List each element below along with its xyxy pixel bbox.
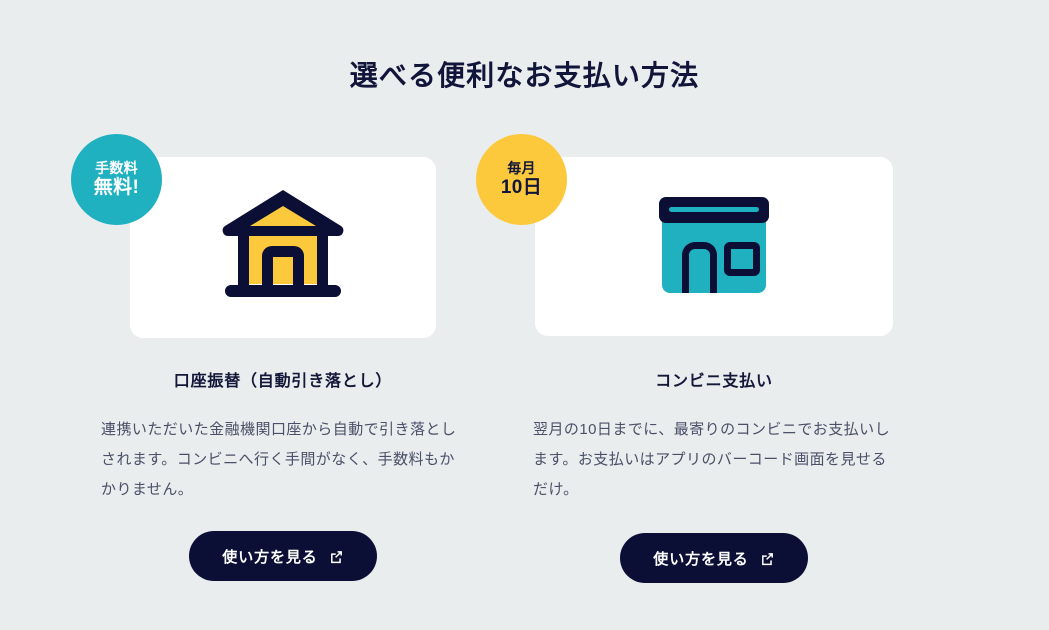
payment-method-card-list: 手数料 無料! [0, 157, 1049, 597]
convenience-store-icon [658, 193, 770, 301]
badge-main-label: 無料! [94, 177, 139, 199]
how-to-use-button-convenience-store[interactable]: 使い方を見る [620, 533, 807, 583]
badge-top-label: 毎月 [507, 160, 536, 176]
badge-main-label: 10日 [501, 177, 542, 199]
card-media-convenience-store: 毎月 10日 [535, 157, 893, 336]
card-action-row-bank: 使い方を見る [130, 505, 436, 581]
page-title: 選べる便利なお支払い方法 [0, 58, 1049, 94]
card-media-bank: 手数料 無料! [130, 157, 436, 338]
card-action-row-convenience-store: 使い方を見る [535, 505, 893, 583]
badge-monthly-10th: 毎月 10日 [476, 134, 567, 225]
how-to-use-button-bank[interactable]: 使い方を見る [189, 531, 376, 581]
payment-method-card-convenience-store: 毎月 10日 コンビニ支払い 翌月の10日までに、最寄りのコンビニでお支払いしま… [535, 157, 893, 583]
badge-top-label: 手数料 [95, 160, 138, 176]
how-to-use-button-label: 使い方を見る [653, 548, 748, 569]
payment-method-card-bank-transfer: 手数料 無料! [130, 157, 436, 581]
external-link-icon [329, 549, 344, 564]
how-to-use-button-label: 使い方を見る [222, 546, 317, 567]
payment-methods-section: 選べる便利なお支払い方法 手数料 無料! [0, 0, 1049, 630]
badge-no-fee: 手数料 無料! [71, 134, 162, 225]
external-link-icon [760, 551, 775, 566]
bank-building-icon [217, 186, 349, 310]
card-body-convenience-store: 翌月の10日までに、最寄りのコンビニでお支払いします。お支払いはアプリのバーコー… [533, 391, 893, 505]
card-body-bank-transfer: 連携いただいた金融機関口座から自動で引き落としされます。コンビニへ行く手間がなく… [101, 391, 463, 505]
card-title-convenience-store: コンビニ支払い [535, 336, 893, 391]
card-title-bank-transfer: 口座振替（自動引き落とし） [130, 338, 436, 391]
